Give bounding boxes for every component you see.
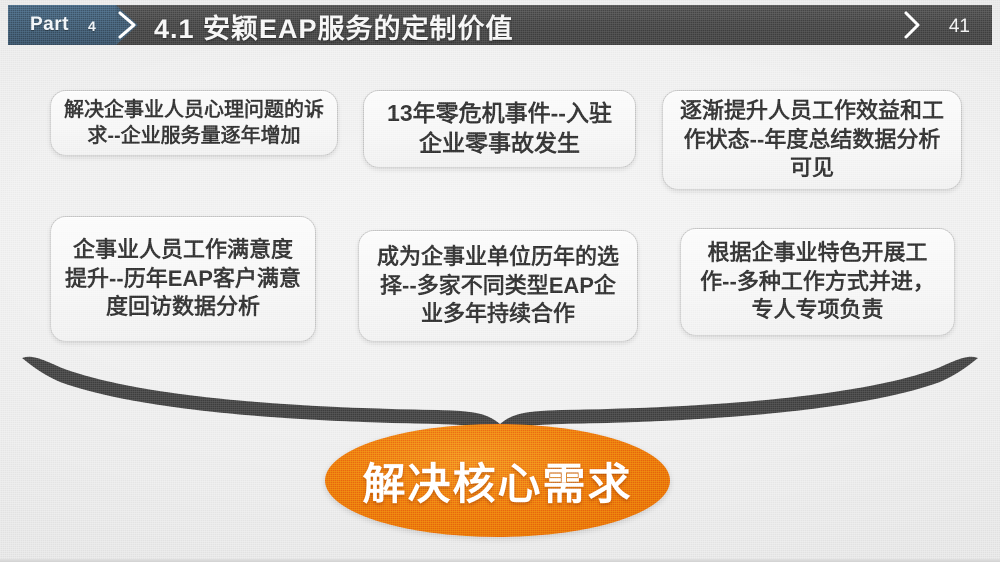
chevron-right-icon-right: [902, 11, 924, 39]
curly-brace-down-icon: [18, 352, 982, 432]
slide-canvas: Part 4 4.1 安颖EAP服务的定制价值 41 解决企事业人员心理问题的诉…: [0, 0, 1000, 562]
value-card: 根据企事业特色开展工作--多种工作方式并进，专人专项负责: [680, 228, 955, 336]
conclusion-label: 解决核心需求: [325, 424, 670, 537]
conclusion-ellipse: 解决核心需求: [325, 424, 670, 537]
value-card: 解决企事业人员心理问题的诉求--企业服务量逐年增加: [50, 90, 338, 156]
page-title: 4.1 安颖EAP服务的定制价值: [154, 7, 514, 46]
part-number: 4: [88, 18, 96, 34]
part-label: Part: [30, 14, 69, 36]
value-card: 成为企事业单位历年的选择--多家不同类型EAP企业多年持续合作: [358, 230, 638, 342]
value-card: 13年零危机事件--入驻企业零事故发生: [363, 90, 636, 168]
page-number: 41: [949, 16, 970, 38]
value-card: 逐渐提升人员工作效益和工作状态--年度总结数据分析可见: [662, 90, 962, 190]
chevron-right-icon: [116, 11, 140, 39]
value-card: 企事业人员工作满意度提升--历年EAP客户满意度回访数据分析: [50, 216, 316, 342]
slide-header: Part 4 4.1 安颖EAP服务的定制价值 41: [8, 5, 992, 45]
